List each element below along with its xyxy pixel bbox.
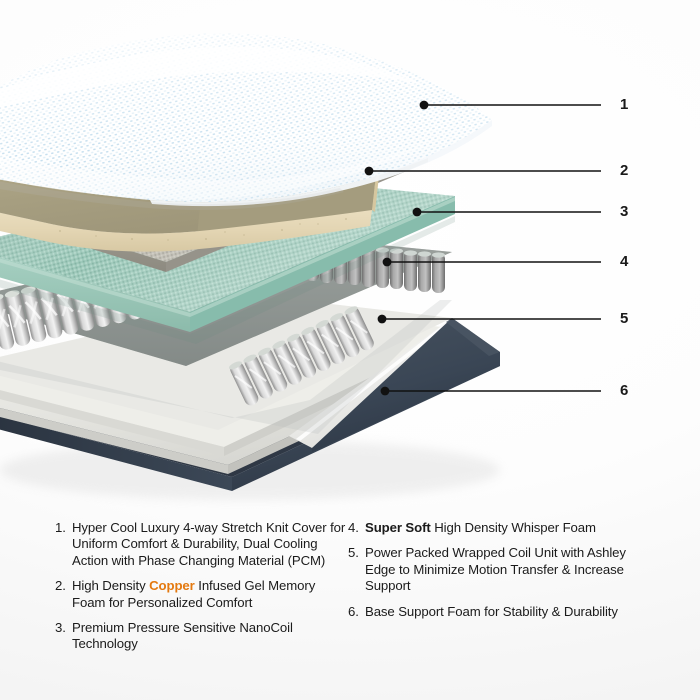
legend-item-text: Premium Pressure Sensitive NanoCoil Tech… — [72, 620, 350, 653]
legend-right-column: 4.Super Soft High Density Whisper Foam5.… — [348, 520, 648, 629]
legend-item-6: 6.Base Support Foam for Stability & Dura… — [348, 604, 648, 620]
callout-number-2: 2 — [620, 163, 628, 178]
legend-item-number: 4. — [348, 520, 365, 536]
mattress-exploded-diagram: 1 2 3 4 5 6 — [0, 0, 700, 512]
legend-item-3: 3.Premium Pressure Sensitive NanoCoil Te… — [55, 620, 350, 653]
legend-item-text: Base Support Foam for Stability & Durabi… — [365, 604, 648, 620]
callout-dot-4 — [383, 258, 392, 267]
legend-item-number: 2. — [55, 578, 72, 611]
legend-text-run: High Density — [72, 578, 149, 593]
legend-item-1: 1.Hyper Cool Luxury 4-way Stretch Knit C… — [55, 520, 350, 569]
legend-item-text: High Density Copper Infused Gel Memory F… — [72, 578, 350, 611]
legend-item-5: 5.Power Packed Wrapped Coil Unit with As… — [348, 545, 648, 594]
legend-text-run: Base Support Foam for Stability & Durabi… — [365, 604, 618, 619]
callout-dot-1 — [420, 101, 429, 110]
legend-text-run: High Density Whisper Foam — [431, 520, 596, 535]
callout-number-6: 6 — [620, 383, 628, 398]
callout-dot-5 — [378, 315, 387, 324]
legend-text-run: Power Packed Wrapped Coil Unit with Ashl… — [365, 545, 626, 593]
callout-dot-3 — [413, 208, 422, 217]
legend-item-number: 6. — [348, 604, 365, 620]
legend-item-text: Power Packed Wrapped Coil Unit with Ashl… — [365, 545, 648, 594]
legend-item-4: 4.Super Soft High Density Whisper Foam — [348, 520, 648, 536]
legend-item-text: Super Soft High Density Whisper Foam — [365, 520, 648, 536]
legend-item-2: 2.High Density Copper Infused Gel Memory… — [55, 578, 350, 611]
callout-number-1: 1 — [620, 97, 628, 112]
legend-text-run: Hyper Cool Luxury 4-way Stretch Knit Cov… — [72, 520, 345, 568]
callout-number-5: 5 — [620, 311, 628, 326]
diagram-stage: 1 2 3 4 5 6 1.Hyper Cool Luxury 4-way St… — [0, 0, 700, 700]
legend-left-column: 1.Hyper Cool Luxury 4-way Stretch Knit C… — [55, 520, 350, 662]
legend: 1.Hyper Cool Luxury 4-way Stretch Knit C… — [0, 520, 700, 700]
layer-knit-cover — [0, 34, 492, 210]
legend-item-number: 3. — [55, 620, 72, 653]
legend-item-number: 1. — [55, 520, 72, 569]
callout-number-4: 4 — [620, 254, 628, 269]
legend-emphasis: Super Soft — [365, 520, 431, 535]
legend-item-number: 5. — [348, 545, 365, 594]
callout-dot-6 — [381, 387, 390, 396]
legend-copper-highlight: Copper — [149, 578, 195, 593]
callout-number-3: 3 — [620, 204, 628, 219]
legend-item-text: Hyper Cool Luxury 4-way Stretch Knit Cov… — [72, 520, 350, 569]
callout-dot-2 — [365, 167, 374, 176]
legend-text-run: Premium Pressure Sensitive NanoCoil Tech… — [72, 620, 293, 651]
